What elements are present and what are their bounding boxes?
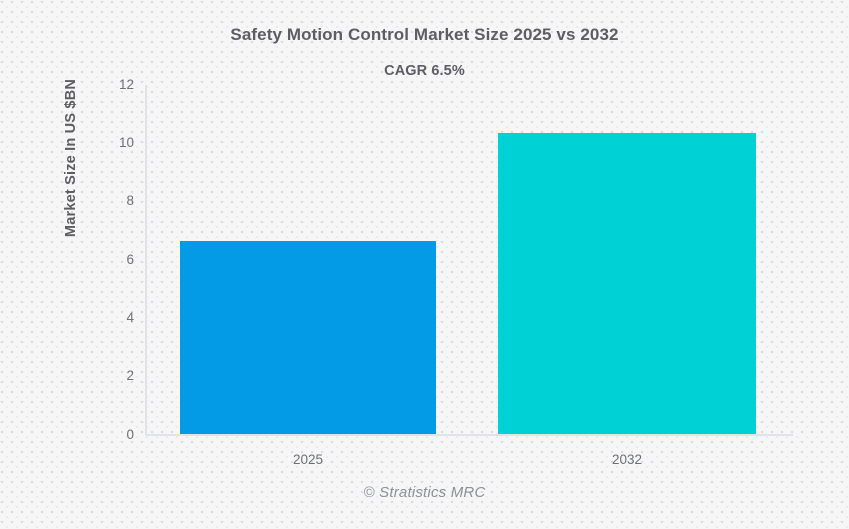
x-tick-label-2025: 2025 (180, 452, 436, 467)
y-tick-label: 4 (100, 311, 134, 325)
bar-2032[interactable] (498, 133, 756, 434)
y-tick-label: 12 (100, 78, 134, 92)
y-tick-label: 0 (100, 428, 134, 442)
y-axis-ticks: 12 10 8 6 4 2 0 (98, 0, 134, 529)
y-axis-title: Market Size In US $BN (63, 43, 79, 273)
plot-area (145, 85, 793, 434)
footer-credit: © Stratistics MRC (0, 484, 849, 501)
x-tick-label-2032: 2032 (498, 452, 756, 467)
bar-2025[interactable] (180, 241, 436, 434)
y-tick-label: 2 (100, 369, 134, 383)
x-axis-line (145, 434, 793, 436)
y-tick-label: 6 (100, 253, 134, 267)
y-tick-label: 8 (100, 194, 134, 208)
y-tick-label: 10 (100, 136, 134, 150)
chart-canvas: Safety Motion Control Market Size 2025 v… (0, 0, 849, 529)
